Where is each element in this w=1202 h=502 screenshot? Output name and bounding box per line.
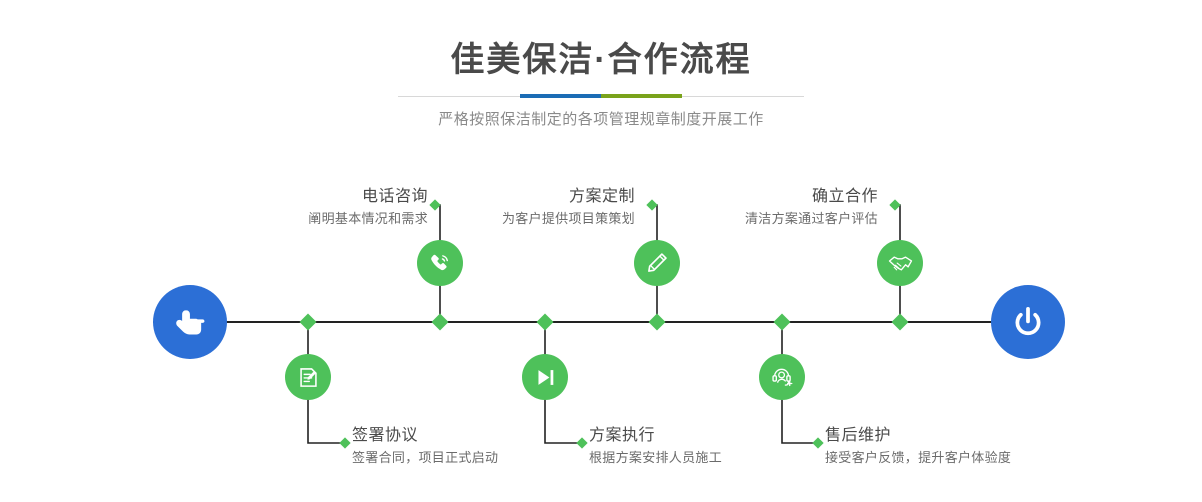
flow-end-node[interactable] <box>991 285 1065 359</box>
step-label-plan-execution: 方案执行 根据方案安排人员施工 <box>589 425 722 469</box>
step-icon-plan-customization[interactable] <box>634 240 680 286</box>
step-title: 方案执行 <box>589 425 722 447</box>
step-icon-after-sales[interactable] <box>759 354 805 400</box>
process-flow-diagram: 电话咨询 阐明基本情况和需求 签署协议 签署合同，项目正式启动 方案定制 为客户… <box>0 0 1202 502</box>
handshake-icon <box>887 250 914 277</box>
step-icon-plan-execution[interactable] <box>522 354 568 400</box>
timeline-node <box>892 314 909 331</box>
step-desc: 接受客户反馈，提升客户体验度 <box>825 447 1011 469</box>
step-label-establish-cooperation: 确立合作 清洁方案通过客户评估 <box>700 186 878 230</box>
pencil-icon <box>644 250 670 276</box>
label-bullet <box>576 437 587 448</box>
power-button-icon <box>1008 302 1048 342</box>
step-title: 方案定制 <box>455 186 635 208</box>
label-bullet <box>812 437 823 448</box>
phone-ringing-icon <box>427 250 453 276</box>
step-label-sign-agreement: 签署协议 签署合同，项目正式启动 <box>352 425 498 469</box>
step-desc: 阐明基本情况和需求 <box>243 208 428 230</box>
step-desc: 签署合同，项目正式启动 <box>352 447 498 469</box>
flow-start-node[interactable] <box>153 285 227 359</box>
document-edit-icon <box>296 365 321 390</box>
step-icon-establish-cooperation[interactable] <box>877 240 923 286</box>
step-label-after-sales: 售后维护 接受客户反馈，提升客户体验度 <box>825 425 1011 469</box>
label-bullet <box>889 199 900 210</box>
step-desc: 根据方案安排人员施工 <box>589 447 722 469</box>
pointing-hand-icon <box>169 301 211 343</box>
customer-service-add-icon <box>769 364 795 390</box>
step-desc: 为客户提供项目策策划 <box>455 208 635 230</box>
step-label-plan-customization: 方案定制 为客户提供项目策策划 <box>455 186 635 230</box>
play-skip-icon <box>533 365 558 390</box>
timeline-node <box>649 314 666 331</box>
label-bullet <box>646 199 657 210</box>
step-label-phone-consult: 电话咨询 阐明基本情况和需求 <box>243 186 428 230</box>
timeline-node <box>774 314 791 331</box>
label-bullet-group <box>339 199 900 448</box>
step-icon-phone-consult[interactable] <box>417 240 463 286</box>
step-title: 签署协议 <box>352 425 498 447</box>
step-icon-sign-agreement[interactable] <box>285 354 331 400</box>
label-bullet <box>429 199 440 210</box>
step-title: 售后维护 <box>825 425 1011 447</box>
step-desc: 清洁方案通过客户评估 <box>700 208 878 230</box>
step-title: 电话咨询 <box>243 186 428 208</box>
timeline-node <box>432 314 449 331</box>
label-bullet <box>339 437 350 448</box>
timeline-node <box>300 314 317 331</box>
step-title: 确立合作 <box>700 186 878 208</box>
timeline-node <box>537 314 554 331</box>
